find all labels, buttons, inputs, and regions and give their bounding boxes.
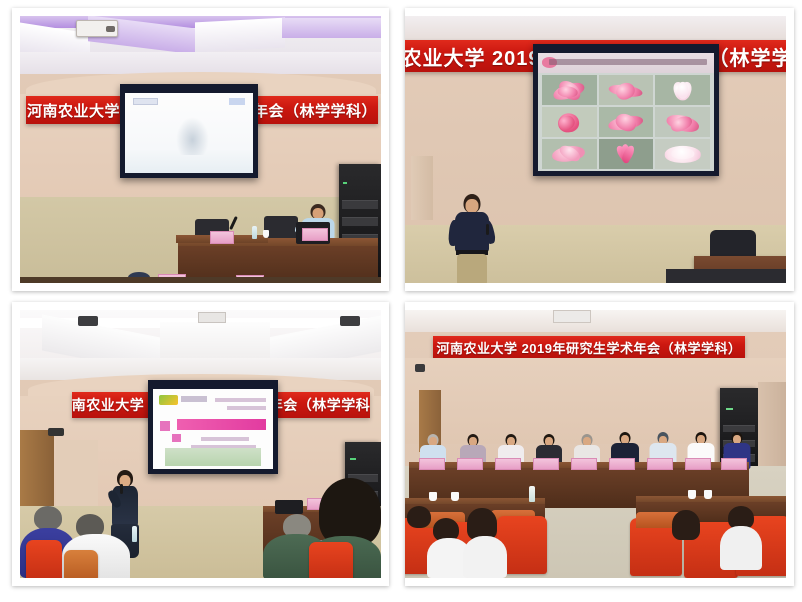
- slide-line: [215, 398, 265, 402]
- wall-speaker: [415, 364, 425, 372]
- cup: [704, 490, 712, 499]
- audience-seat: [26, 540, 62, 578]
- water-bottle: [252, 226, 257, 239]
- microphone: [120, 484, 123, 494]
- photo-collage: 河南农业大学 2019年研究生学术年会（林学学科）: [0, 0, 802, 602]
- name-placard: [302, 228, 328, 241]
- audience-head: [34, 506, 62, 530]
- slide-plain: [125, 93, 253, 173]
- magnolia-bloom: [549, 143, 590, 165]
- slide-block: [160, 421, 170, 431]
- audience-shoulders: [463, 536, 507, 578]
- foreground-object: [666, 269, 786, 283]
- name-placard: [609, 458, 635, 470]
- rack-slot: [342, 200, 377, 209]
- ceiling: [405, 16, 786, 42]
- ceiling: [405, 310, 786, 332]
- slide-figure: [176, 117, 209, 155]
- slide-footer-image: [165, 448, 261, 466]
- ceiling-fan-icon: [78, 316, 98, 326]
- person-legs: [457, 254, 487, 283]
- magnolia-bloom: [663, 112, 704, 134]
- magnolia-bloom: [606, 143, 647, 165]
- slide-title-band: [177, 419, 266, 429]
- screen-surface: [125, 93, 253, 173]
- panel-photo-bottom-right: 河南农业大学 2019年研究生学术年会（林学学科）: [405, 310, 786, 578]
- slide-line: [227, 406, 265, 410]
- panel-bottom-right[interactable]: 河南农业大学 2019年研究生学术年会（林学学科）: [397, 296, 802, 602]
- slide-tag: [133, 98, 158, 106]
- foreground-table: [20, 277, 381, 283]
- water-bottle: [132, 526, 137, 542]
- magnolia-bloom: [606, 112, 647, 134]
- banner-text: 河南农业大学 2019年研究生学术年会（林学学科）: [436, 338, 741, 357]
- panel-photo-top-left: 河南农业大学 2019年研究生学术年会（林学学科）: [20, 16, 381, 283]
- slide-title-text: [549, 59, 707, 65]
- magnolia-bloom: [549, 80, 590, 102]
- name-placard: [210, 231, 234, 244]
- flower-cell: [655, 107, 710, 137]
- cup: [429, 492, 437, 501]
- slide-block: [172, 434, 180, 442]
- audience-head: [672, 510, 700, 540]
- flower-cell: [542, 139, 597, 169]
- slide-flower-grid: [538, 53, 714, 171]
- flower-cell: [542, 75, 597, 105]
- flower-cell: [542, 107, 597, 137]
- door: [411, 156, 433, 220]
- rack-led: [343, 182, 347, 184]
- name-placard: [571, 458, 597, 470]
- wall-speaker: [48, 428, 64, 436]
- name-placard: [685, 458, 711, 470]
- magnolia-bloom: [663, 80, 704, 102]
- chair: [264, 216, 298, 238]
- screen-surface: [538, 53, 714, 171]
- projection-screen: [533, 44, 719, 176]
- cup: [263, 230, 269, 238]
- panel-photo-bottom-left: 河南农业大学 2019年研究生学术年会（林学学科）: [20, 310, 381, 578]
- person-presenter: [449, 194, 495, 283]
- event-banner: 河南农业大学 2019年研究生学术年会（林学学科）: [433, 336, 745, 358]
- water-bottle: [529, 486, 535, 502]
- panel-photo-top-right: 河南农业大学 2019年研究生学术年会（林学学科）: [405, 16, 786, 283]
- slide-logo: [159, 395, 178, 405]
- name-placard: [721, 458, 747, 470]
- flower-cell: [655, 139, 710, 169]
- name-placard: [419, 458, 445, 470]
- person-face: [466, 199, 479, 213]
- screen-surface: [153, 389, 273, 469]
- flower-cell: [599, 139, 654, 169]
- wall-recess: [56, 440, 98, 510]
- ceiling-panel-right: [195, 18, 285, 53]
- slide-title-area: [538, 53, 714, 73]
- flower-cell: [599, 107, 654, 137]
- slide-line: [201, 437, 249, 441]
- flower-cell: [655, 75, 710, 105]
- ceiling-vent: [553, 310, 591, 323]
- name-placard: [457, 458, 483, 470]
- slide-title: [153, 389, 273, 469]
- microphone: [486, 224, 489, 235]
- audience-seat: [309, 542, 353, 578]
- ceiling-soffit: [20, 52, 381, 74]
- slide-tag-secondary: [229, 98, 246, 105]
- name-placard: [495, 458, 521, 470]
- magnolia-bloom: [663, 143, 704, 165]
- slide-logo-text: [181, 396, 207, 402]
- projector-icon: [76, 20, 118, 37]
- projection-screen: [120, 84, 258, 178]
- panel-bottom-left[interactable]: 河南农业大学 2019年研究生学术年会（林学学科）: [0, 296, 397, 602]
- projector-lens: [106, 26, 115, 32]
- cup: [688, 490, 696, 499]
- monitor: [275, 500, 303, 514]
- rack-slot: [342, 217, 377, 226]
- magnolia-bloom: [549, 112, 590, 134]
- panel-top-right[interactable]: 河南农业大学 2019年研究生学术年会（林学学科）: [397, 0, 802, 296]
- ceiling-panel-mid: [160, 322, 270, 360]
- projection-screen: [148, 380, 278, 474]
- flower-cell: [599, 75, 654, 105]
- ceiling-vent: [198, 312, 226, 323]
- cup: [451, 492, 459, 501]
- audience-shoulders: [720, 526, 762, 570]
- ceiling-panel-far: [282, 18, 381, 38]
- name-placard: [533, 458, 559, 470]
- panel-top-left[interactable]: 河南农业大学 2019年研究生学术年会（林学学科）: [0, 0, 397, 296]
- rack-led: [350, 458, 356, 460]
- audience-head: [407, 506, 431, 528]
- flower-grid: [542, 75, 711, 168]
- name-placard: [647, 458, 673, 470]
- ceiling-fan-icon: [340, 316, 360, 326]
- audience-seat: [64, 550, 98, 578]
- rack-led: [726, 408, 733, 410]
- magnolia-bloom: [606, 80, 647, 102]
